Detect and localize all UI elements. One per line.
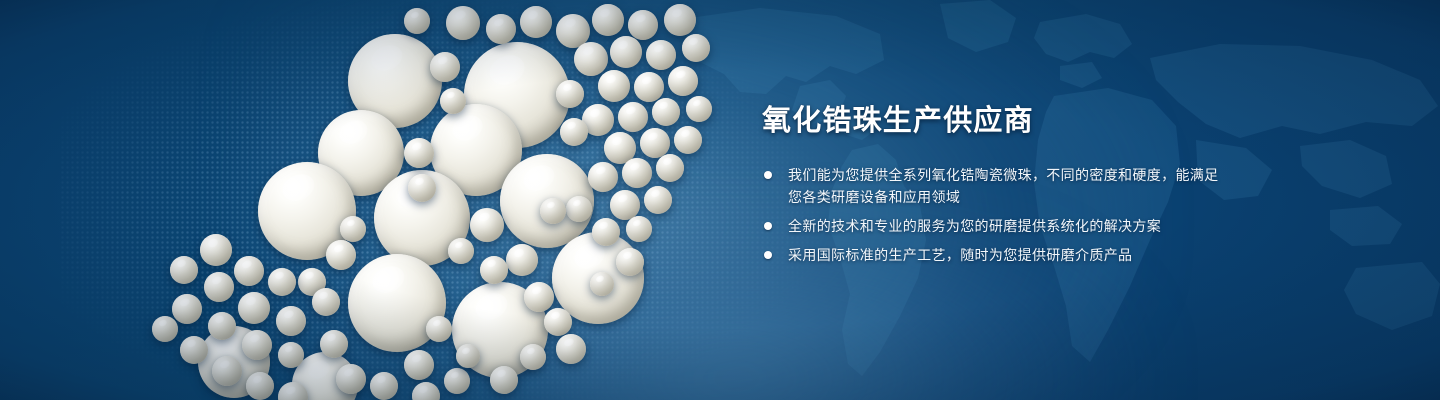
page-title: 氧化锆珠生产供应商 bbox=[762, 104, 1232, 138]
feature-list: 我们能为您提供全系列氧化锆陶瓷微珠，不同的密度和硬度，能满足您各类研磨设备和应用… bbox=[762, 164, 1232, 266]
hero-banner: 氧化锆珠生产供应商 我们能为您提供全系列氧化锆陶瓷微珠，不同的密度和硬度，能满足… bbox=[0, 0, 1440, 400]
list-item-label: 我们能为您提供全系列氧化锆陶瓷微珠，不同的密度和硬度，能满足您各类研磨设备和应用… bbox=[788, 167, 1219, 205]
list-item: 全新的技术和专业的服务为您的研磨提供系统化的解决方案 bbox=[762, 215, 1232, 237]
list-item: 我们能为您提供全系列氧化锆陶瓷微珠，不同的密度和硬度，能满足您各类研磨设备和应用… bbox=[762, 164, 1232, 208]
list-item-label: 全新的技术和专业的服务为您的研磨提供系统化的解决方案 bbox=[788, 218, 1161, 234]
bullet-dot-icon bbox=[764, 222, 772, 230]
list-item: 采用国际标准的生产工艺，随时为您提供研磨介质产品 bbox=[762, 244, 1232, 266]
bullet-dot-icon bbox=[764, 251, 772, 259]
bullet-dot-icon bbox=[764, 171, 772, 179]
banner-copy: 氧化锆珠生产供应商 我们能为您提供全系列氧化锆陶瓷微珠，不同的密度和硬度，能满足… bbox=[762, 104, 1232, 266]
list-item-label: 采用国际标准的生产工艺，随时为您提供研磨介质产品 bbox=[788, 247, 1132, 263]
